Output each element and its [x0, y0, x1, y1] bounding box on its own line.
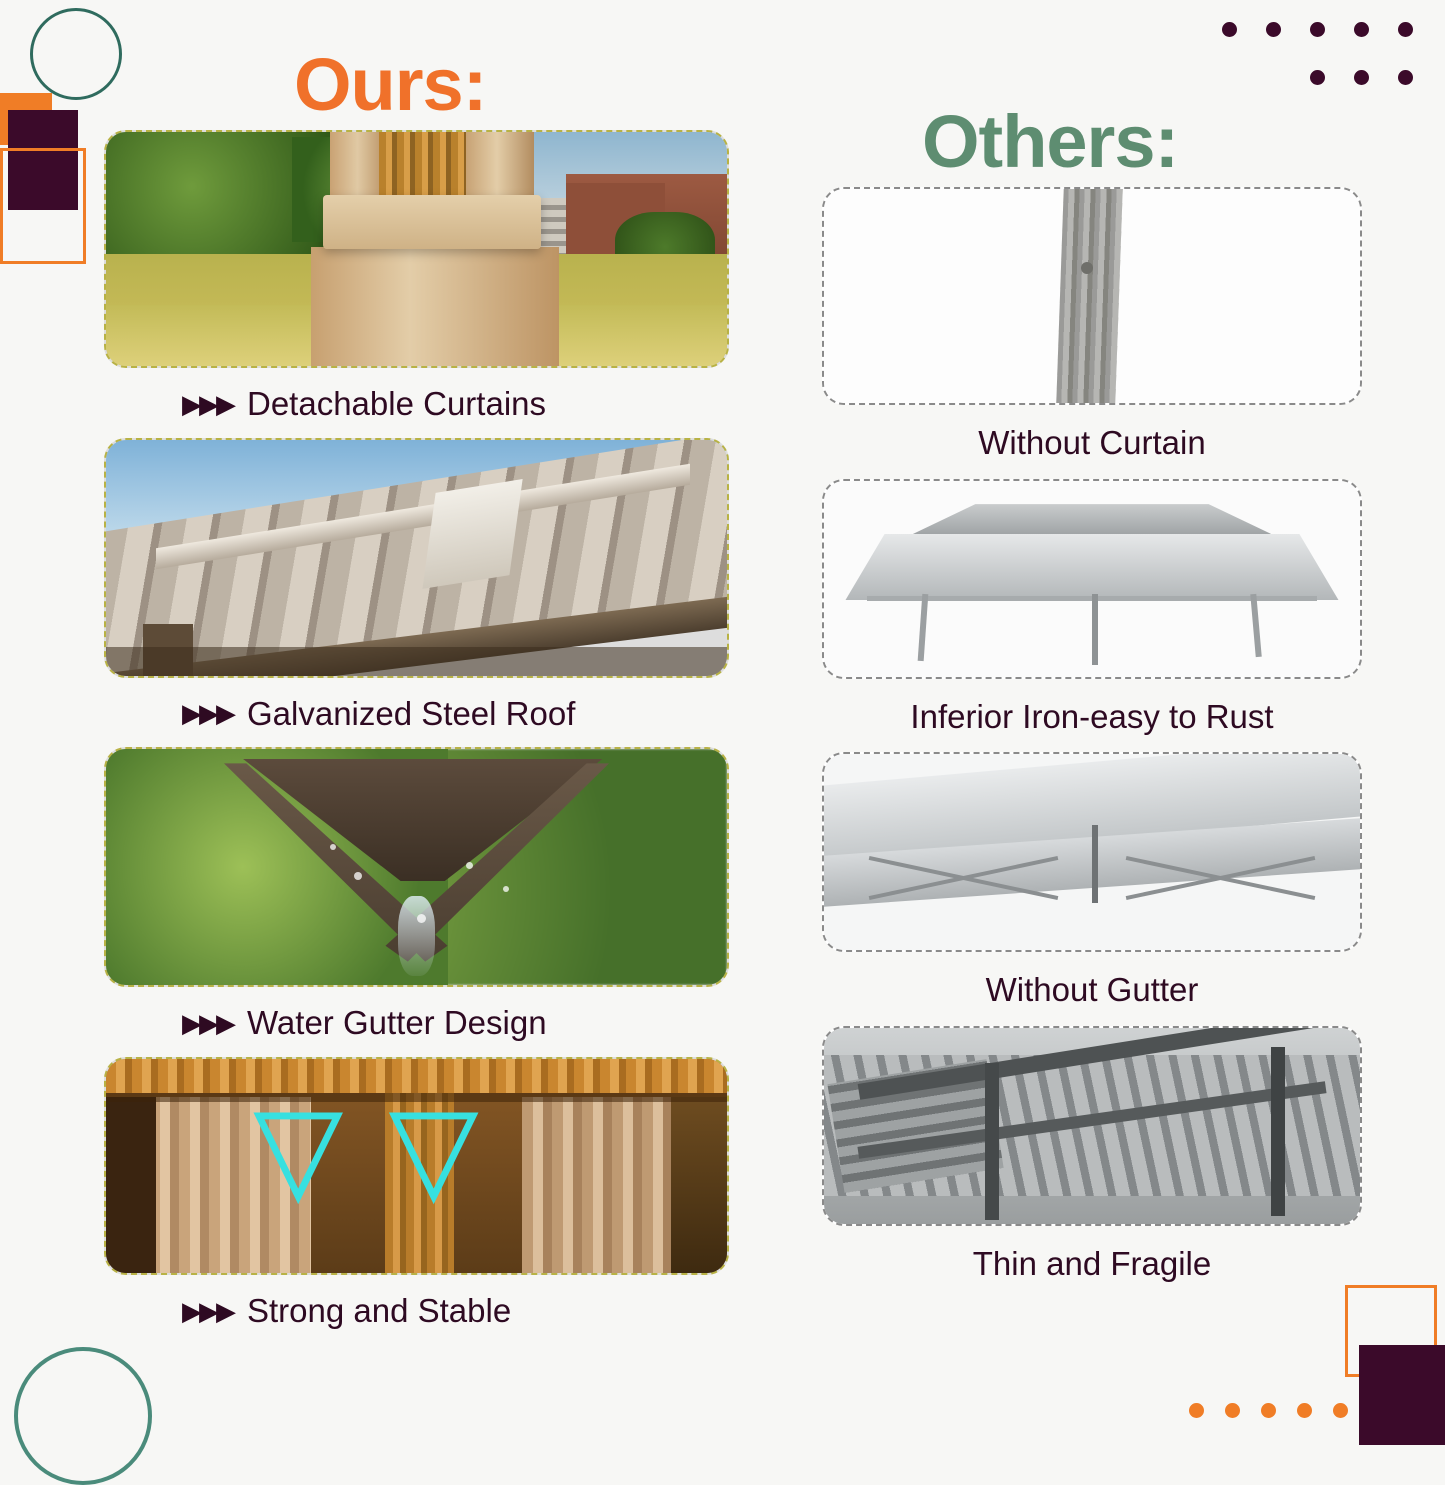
ours-column: Ours: ▶▶▶ Detachable Curtains ▶▶▶ Galvan…	[104, 0, 744, 1344]
others-caption-1: Without Curtain	[822, 405, 1362, 479]
arrow-marker-icon: ▶▶▶	[182, 1010, 233, 1036]
ours-caption-2: Galvanized Steel Roof	[247, 694, 575, 734]
others-caption-2: Inferior Iron-easy to Rust	[822, 679, 1362, 753]
ours-caption-row-4: ▶▶▶ Strong and Stable	[104, 1275, 744, 1345]
ours-caption-row-1: ▶▶▶ Detachable Curtains	[104, 368, 744, 438]
ours-image-card-1	[104, 130, 729, 368]
corner-bracket-photo	[106, 1059, 727, 1273]
ours-caption-4: Strong and Stable	[247, 1291, 511, 1331]
ours-image-card-4	[104, 1057, 729, 1275]
bracket-highlight-icon	[106, 1059, 727, 1273]
arrow-marker-icon: ▶▶▶	[182, 391, 233, 417]
ours-title: Ours:	[104, 0, 744, 122]
ours-caption-row-3: ▶▶▶ Water Gutter Design	[104, 987, 744, 1057]
canopy-no-gutter-photo	[824, 754, 1360, 950]
thin-pergola-photo	[824, 1028, 1360, 1224]
ours-image-card-3	[104, 747, 729, 987]
others-column: Others: Without Curtain Inferior Iron-ea…	[822, 0, 1445, 1299]
others-caption-3: Without Gutter	[822, 952, 1362, 1026]
ours-caption-row-2: ▶▶▶ Galvanized Steel Roof	[104, 678, 744, 748]
others-image-card-3	[822, 752, 1362, 952]
others-image-card-4	[822, 1026, 1362, 1226]
others-image-card-1	[822, 187, 1362, 405]
pop-up-canopy-photo	[824, 481, 1360, 677]
curtain-tieback-photo	[106, 132, 727, 366]
water-gutter-photo	[106, 749, 727, 985]
ours-caption-3: Water Gutter Design	[247, 1003, 547, 1043]
ours-caption-1: Detachable Curtains	[247, 384, 546, 424]
galvanized-steel-roof-photo	[106, 440, 727, 676]
others-image-card-2	[822, 479, 1362, 679]
others-caption-4: Thin and Fragile	[822, 1226, 1362, 1300]
others-title: Others:	[822, 0, 1445, 179]
decor-circle-bottom-left	[14, 1347, 152, 1485]
decor-dots-bottom-right	[1189, 1403, 1349, 1423]
decor-square-dark-bottom-right	[1359, 1345, 1445, 1445]
arrow-marker-icon: ▶▶▶	[182, 700, 233, 726]
decor-square-outline-top-left	[0, 148, 86, 264]
arrow-marker-icon: ▶▶▶	[182, 1298, 233, 1324]
bare-wood-post-photo	[824, 189, 1360, 403]
ours-image-card-2	[104, 438, 729, 678]
